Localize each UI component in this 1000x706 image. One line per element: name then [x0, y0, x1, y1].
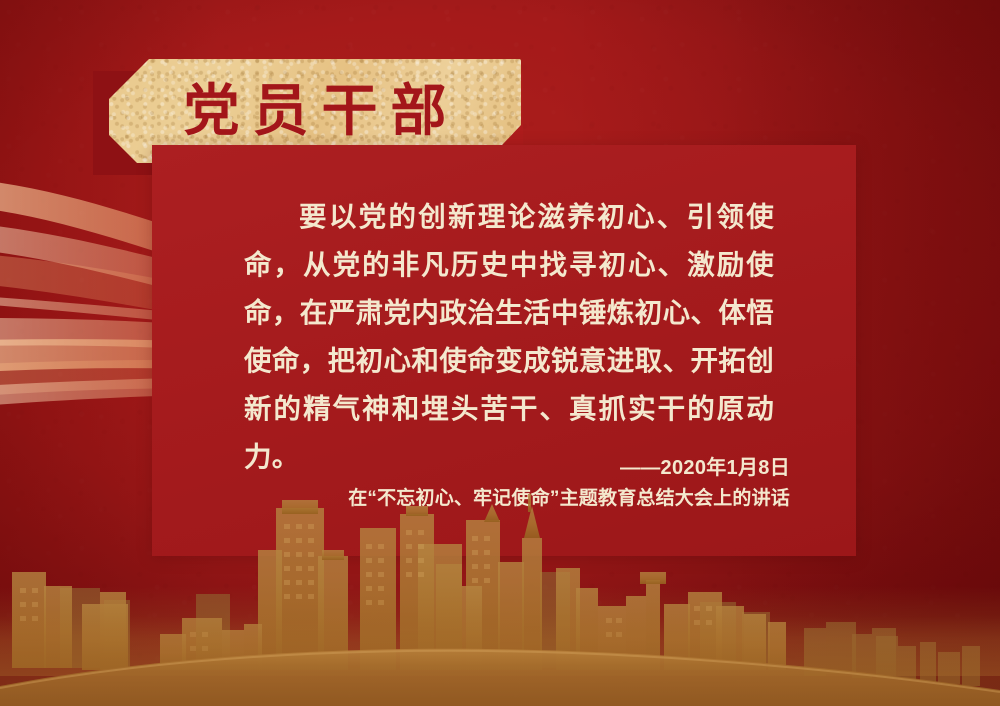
quote-text: 要以党的创新理论滋养初心、引领使命，从党的非凡历史中找寻初心、激励使命，在严肃党…: [244, 193, 774, 481]
city-skyline: [0, 476, 1000, 706]
poster-canvas: 党员干部 要以党的创新理论滋养初心、引领使命，从党的非凡历史中找寻初心、激励使命…: [0, 0, 1000, 706]
